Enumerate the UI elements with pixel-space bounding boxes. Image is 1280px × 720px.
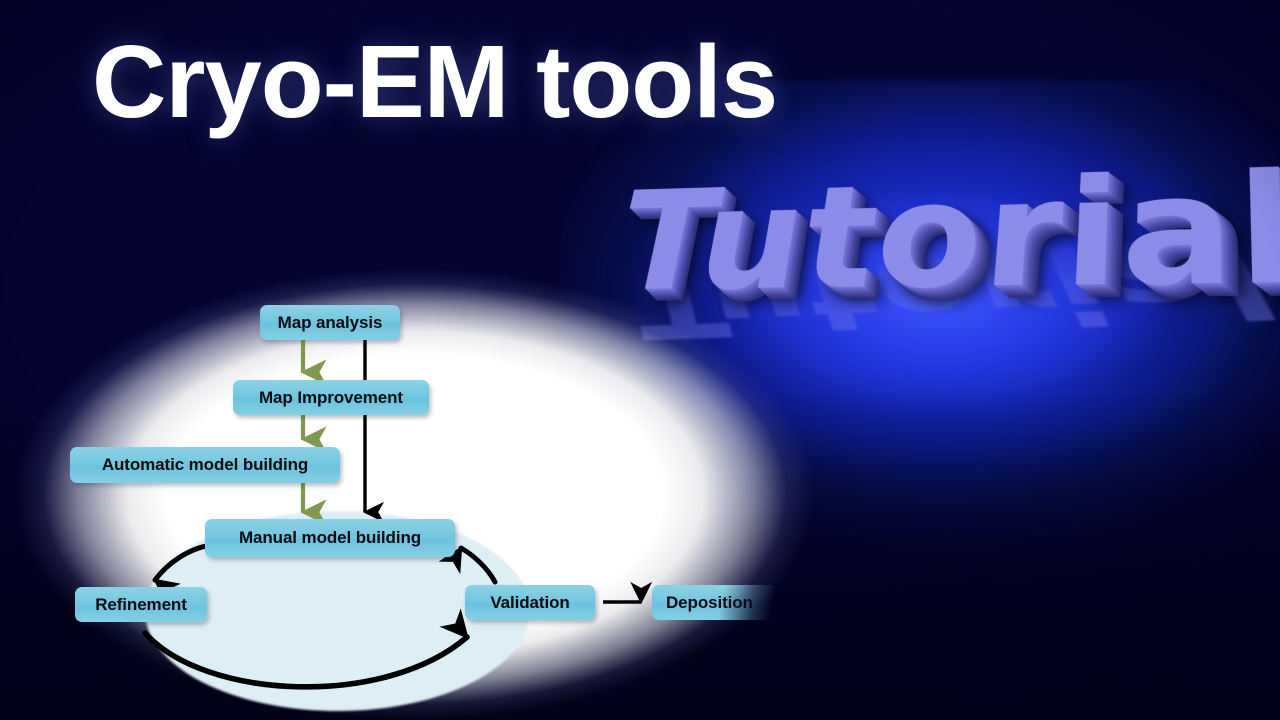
node-map-analysis[interactable]: Map analysis <box>260 305 400 340</box>
edge-refinement-to-validation <box>145 633 467 687</box>
edge-manualbuild-to-refinement <box>155 545 211 580</box>
node-refinement[interactable]: Refinement <box>75 587 207 622</box>
node-validation[interactable]: Validation <box>465 585 595 620</box>
node-deposition[interactable]: Deposition <box>652 585 784 620</box>
node-automatic-model-building[interactable]: Automatic model building <box>70 447 340 483</box>
slide-canvas: Tutorial Tutorial Cryo-EM tools <box>0 0 1280 720</box>
workflow-diagram: Map analysis Map Improvement Automatic m… <box>15 268 815 720</box>
spotlight-area: Map analysis Map Improvement Automatic m… <box>15 268 815 720</box>
workflow-arrows <box>15 268 815 720</box>
node-manual-model-building[interactable]: Manual model building <box>205 519 455 557</box>
edge-validation-to-manualbuild <box>461 548 495 582</box>
page-title: Cryo-EM tools <box>92 28 777 136</box>
node-map-improvement[interactable]: Map Improvement <box>233 380 429 415</box>
